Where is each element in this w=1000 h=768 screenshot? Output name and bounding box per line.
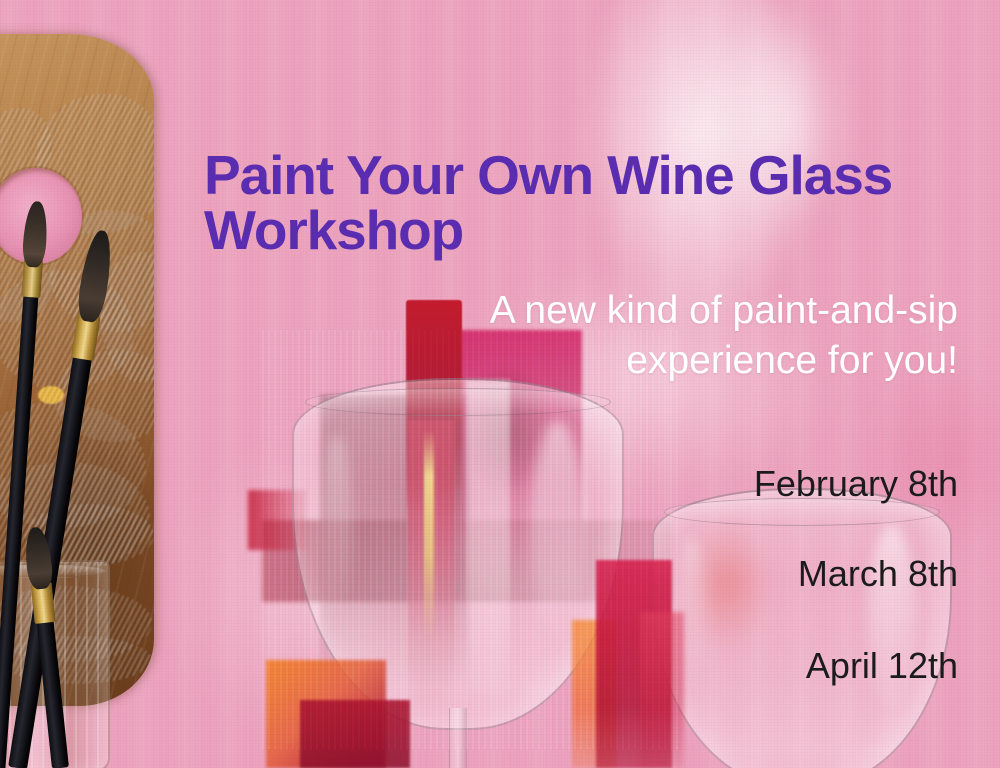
workshop-date-3: April 12th bbox=[806, 648, 958, 684]
workshop-date-2: March 8th bbox=[798, 556, 958, 592]
workshop-date-1: February 8th bbox=[754, 466, 958, 502]
poster-canvas: Paint Your Own Wine Glass Workshop A new… bbox=[0, 0, 1000, 768]
poster-subtitle: A new kind of paint-and-sip experience f… bbox=[338, 286, 958, 386]
poster-headline: Paint Your Own Wine Glass Workshop bbox=[204, 148, 960, 258]
